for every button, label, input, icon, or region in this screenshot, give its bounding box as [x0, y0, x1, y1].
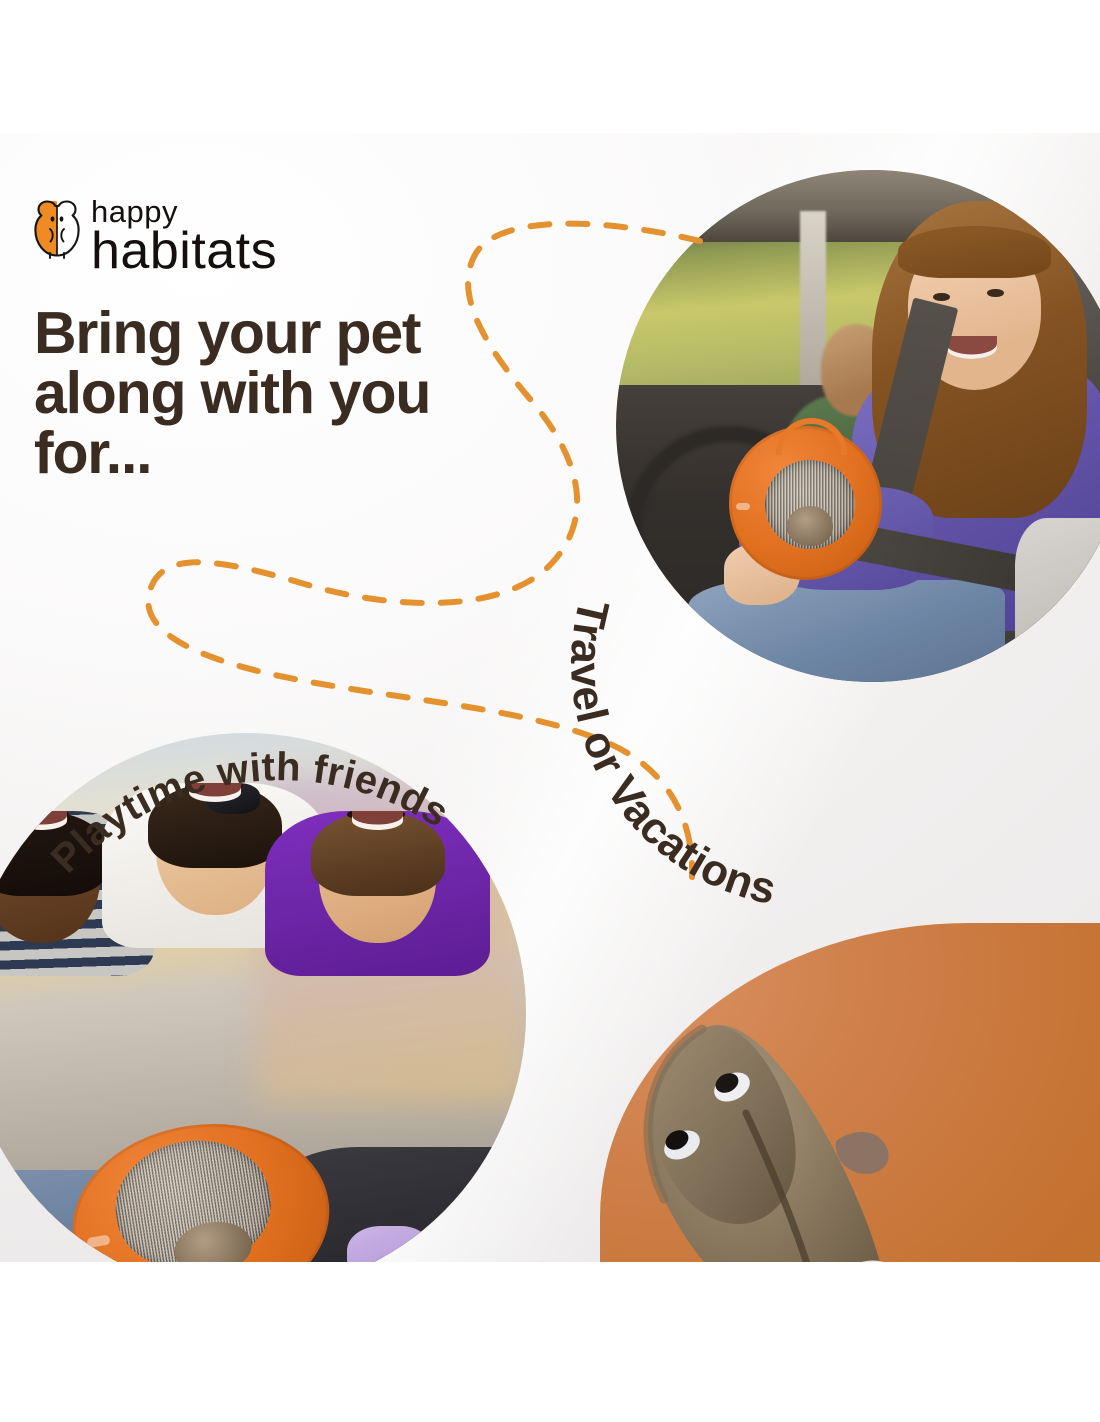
brand-logo[interactable]: happy habitats — [33, 195, 277, 276]
hamster-logo-icon — [33, 195, 81, 261]
headline-line-2: along with you — [34, 363, 504, 423]
poster-canvas: Girl in purple hoodie seated in a car ho… — [0, 0, 1100, 1422]
brand-name-habitats: habitats — [91, 228, 277, 276]
label-play-text: Playtime with friends — [43, 745, 457, 881]
carrier-latch — [87, 1235, 111, 1248]
car-door-panel — [1015, 518, 1100, 682]
girl-eye-left — [933, 293, 949, 301]
girl-smile — [946, 336, 997, 359]
label-travel-text: Travel or Vacations — [561, 595, 781, 914]
label-playtime-with-friends: Playtime with friends — [34, 629, 554, 929]
girl-bangs — [898, 226, 1052, 277]
content-panel: Girl in purple hoodie seated in a car ho… — [0, 133, 1100, 1262]
brand-wordmark: happy habitats — [91, 195, 277, 276]
page-title: Bring your pet along with you for... — [34, 303, 504, 484]
headline-line-3: for... — [34, 423, 504, 483]
girl-eye-right — [987, 289, 1003, 297]
label-travel-or-vacations: Travel or Vacations — [548, 478, 1008, 938]
child-right-shoe — [347, 1226, 431, 1262]
headline-line-1: Bring your pet — [34, 303, 504, 363]
hamster-photo-cutout — [590, 963, 970, 1262]
